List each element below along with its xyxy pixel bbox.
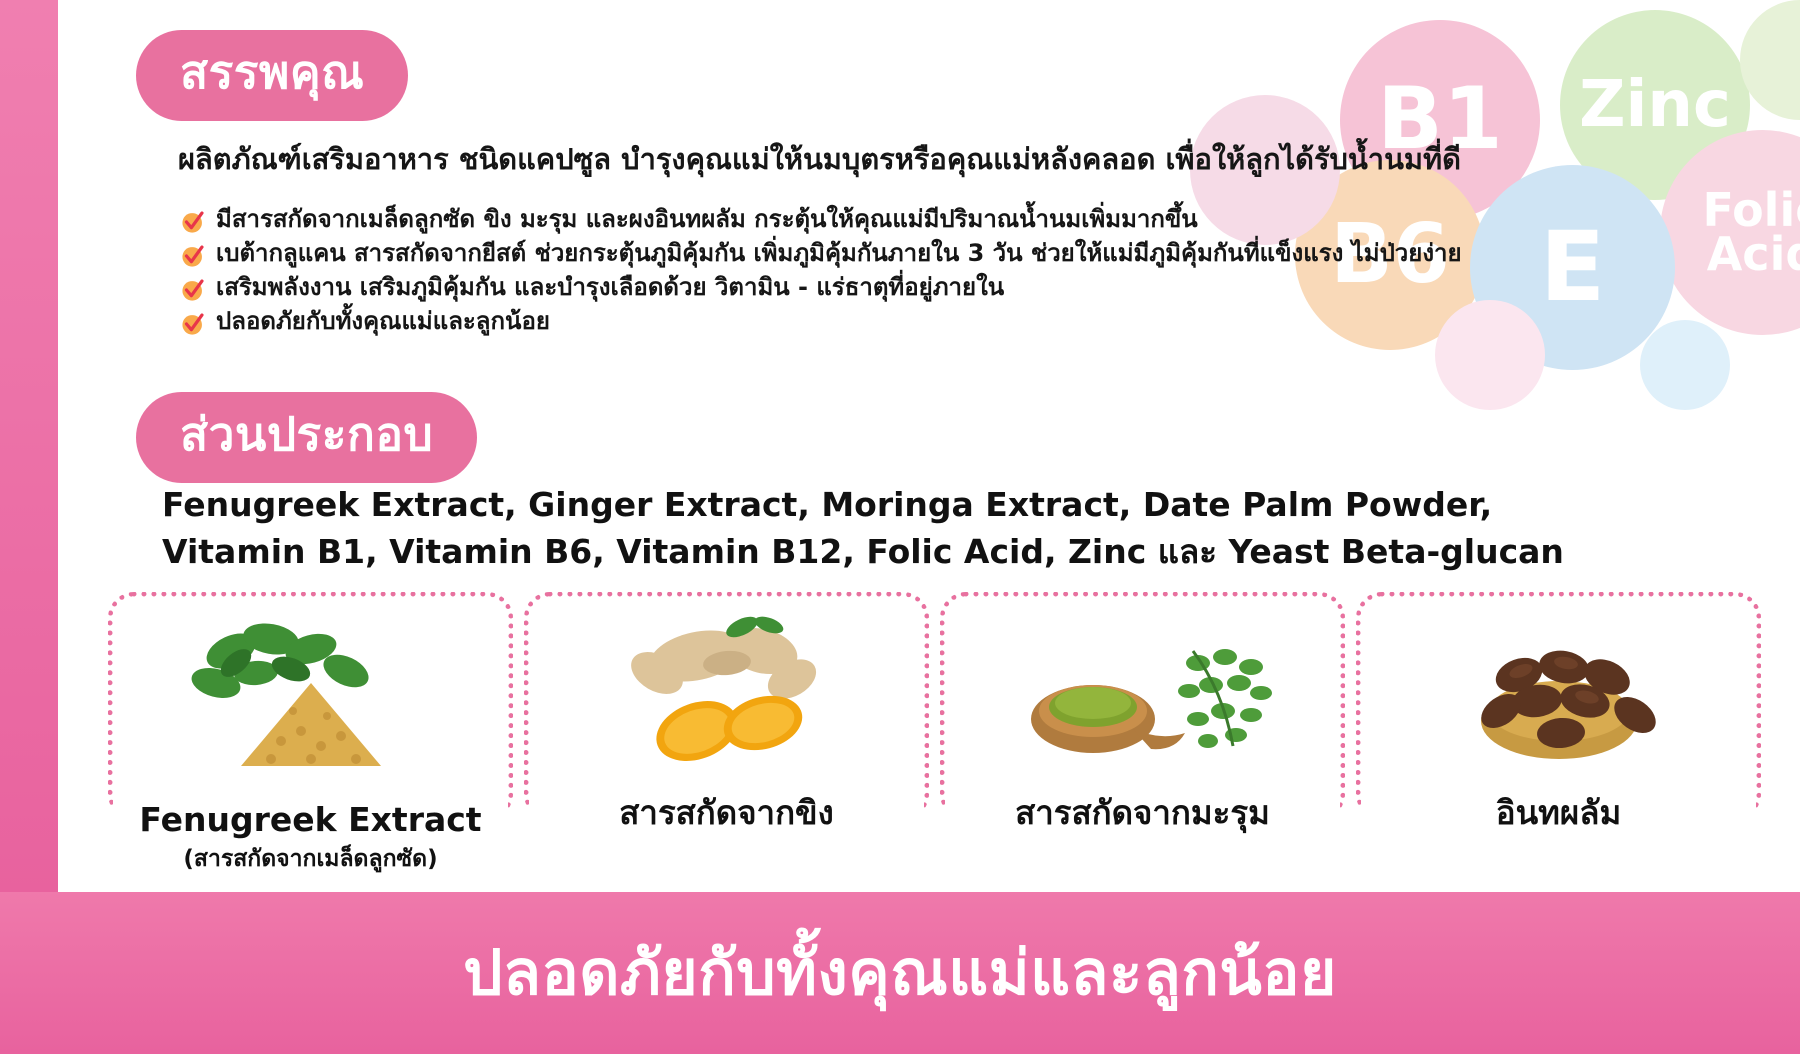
benefit-item: ปลอดภัยกับทั้งคุณแม่และลูกน้อย [180,308,1462,337]
dates-in-bowl-photo [1361,611,1756,771]
product-description: ผลิตภัณฑ์เสริมอาหาร ชนิดแคปซูล บำรุงคุณแ… [178,136,1461,182]
ingredients-badge: ส่วนประกอบ [136,392,477,483]
infographic-content: สรรพคุณ ผลิตภัณฑ์เสริมอาหาร ชนิดแคปซูล บ… [0,0,1800,1054]
orange-check-icon [180,243,206,269]
benefits-badge-wrap: สรรพคุณ [136,30,408,121]
ingredients-line-1: Fenugreek Extract, Ginger Extract, Morin… [162,482,1564,529]
orange-check-icon [180,311,206,337]
benefit-text: ปลอดภัยกับทั้งคุณแม่และลูกน้อย [216,308,550,336]
benefits-list: มีสารสกัดจากเมล็ดลูกซัด ขิง มะรุม และผงอ… [180,206,1462,342]
benefits-badge: สรรพคุณ [136,30,408,121]
orange-check-icon [180,209,206,235]
ingredient-card-sublabel: (สารสกัดจากเมล็ดลูกซัด) [113,841,508,877]
ingredient-card-label: Fenugreek Extract [113,800,508,839]
moringa-powder-bowl-and-leaves-photo [945,611,1340,771]
ingredient-cards: Fenugreek Extract(สารสกัดจากเมล็ดลูกซัด) [108,592,1772,820]
ingredients-text: Fenugreek Extract, Ginger Extract, Morin… [162,482,1564,576]
ingredient-card: Fenugreek Extract(สารสกัดจากเมล็ดลูกซัด) [108,592,513,820]
ingredient-card-label: สารสกัดจากมะรุม [945,786,1340,839]
benefit-text: มีสารสกัดจากเมล็ดลูกซัด ขิง มะรุม และผงอ… [216,206,1198,234]
ingredient-card: สารสกัดจากขิง [524,592,929,820]
fenugreek-seeds-and-leaves-photo [113,611,508,771]
ingredients-badge-wrap: ส่วนประกอบ [136,392,477,483]
benefit-item: เสริมพลังงาน เสริมภูมิคุ้มกัน และบำรุงเล… [180,274,1462,303]
ginger-root-sliced-photo [529,611,924,771]
ingredient-card-label: สารสกัดจากขิง [529,786,924,839]
footer-banner: ปลอดภัยกับทั้งคุณแม่และลูกน้อย [0,892,1800,1054]
ingredient-card-label: อินทผลัม [1361,786,1756,839]
benefit-text: เสริมพลังงาน เสริมภูมิคุ้มกัน และบำรุงเล… [216,274,1004,302]
ingredient-card: อินทผลัม [1356,592,1761,820]
orange-check-icon [180,277,206,303]
ingredients-line-2: Vitamin B1, Vitamin B6, Vitamin B12, Fol… [162,529,1564,576]
benefit-item: มีสารสกัดจากเมล็ดลูกซัด ขิง มะรุม และผงอ… [180,206,1462,235]
ingredient-card: สารสกัดจากมะรุม [940,592,1345,820]
benefit-item: เบต้ากลูแคน สารสกัดจากยีสต์ ช่วยกระตุ้นภ… [180,240,1462,269]
benefit-text: เบต้ากลูแคน สารสกัดจากยีสต์ ช่วยกระตุ้นภ… [216,240,1462,268]
footer-slogan: ปลอดภัยกับทั้งคุณแม่และลูกน้อย [463,924,1337,1022]
